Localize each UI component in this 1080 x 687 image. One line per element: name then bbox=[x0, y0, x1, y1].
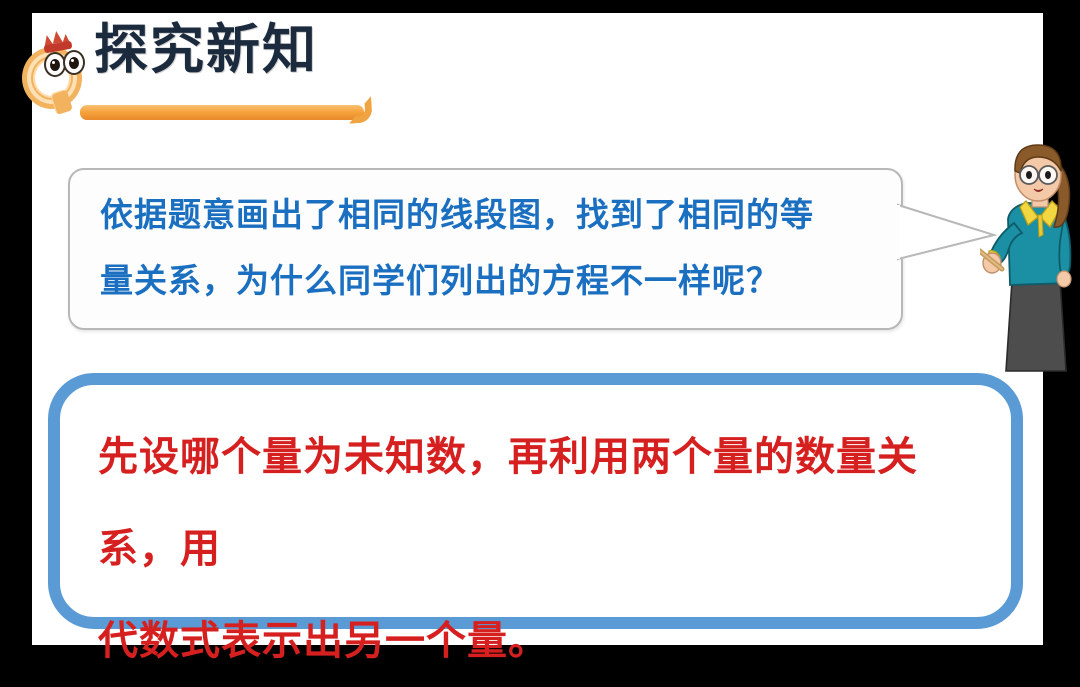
mascot-pupil-right bbox=[69, 57, 79, 69]
crown-icon bbox=[42, 31, 74, 51]
page-title-block: 探究新知 bbox=[32, 17, 392, 127]
key-point-text: 先设哪个量为未知数，再利用两个量的数量关系，用 代数式表示出另一个量。 bbox=[98, 411, 988, 687]
slide-frame: 探究新知 依据题意画出了相同的线段图，找到了相同的等 量关系，为什么同学们列出的… bbox=[0, 0, 1080, 667]
mascot-eye-right bbox=[63, 50, 85, 75]
speech-bubble: 依据题意画出了相同的线段图，找到了相同的等 量关系，为什么同学们列出的方程不一样… bbox=[68, 168, 903, 330]
mascot-pupil-left bbox=[50, 59, 60, 71]
slide-page: 探究新知 依据题意画出了相同的线段图，找到了相同的等 量关系，为什么同学们列出的… bbox=[32, 13, 1043, 645]
speech-bubble-text: 依据题意画出了相同的线段图，找到了相同的等 量关系，为什么同学们列出的方程不一样… bbox=[100, 182, 890, 314]
title-underline-bar bbox=[80, 105, 364, 120]
teacher-illustration bbox=[980, 141, 1076, 373]
title-underline-curl bbox=[347, 96, 373, 124]
key-point-callout: 先设哪个量为未知数，再利用两个量的数量关系，用 代数式表示出另一个量。 bbox=[48, 373, 1023, 629]
page-title: 探究新知 bbox=[94, 23, 318, 77]
